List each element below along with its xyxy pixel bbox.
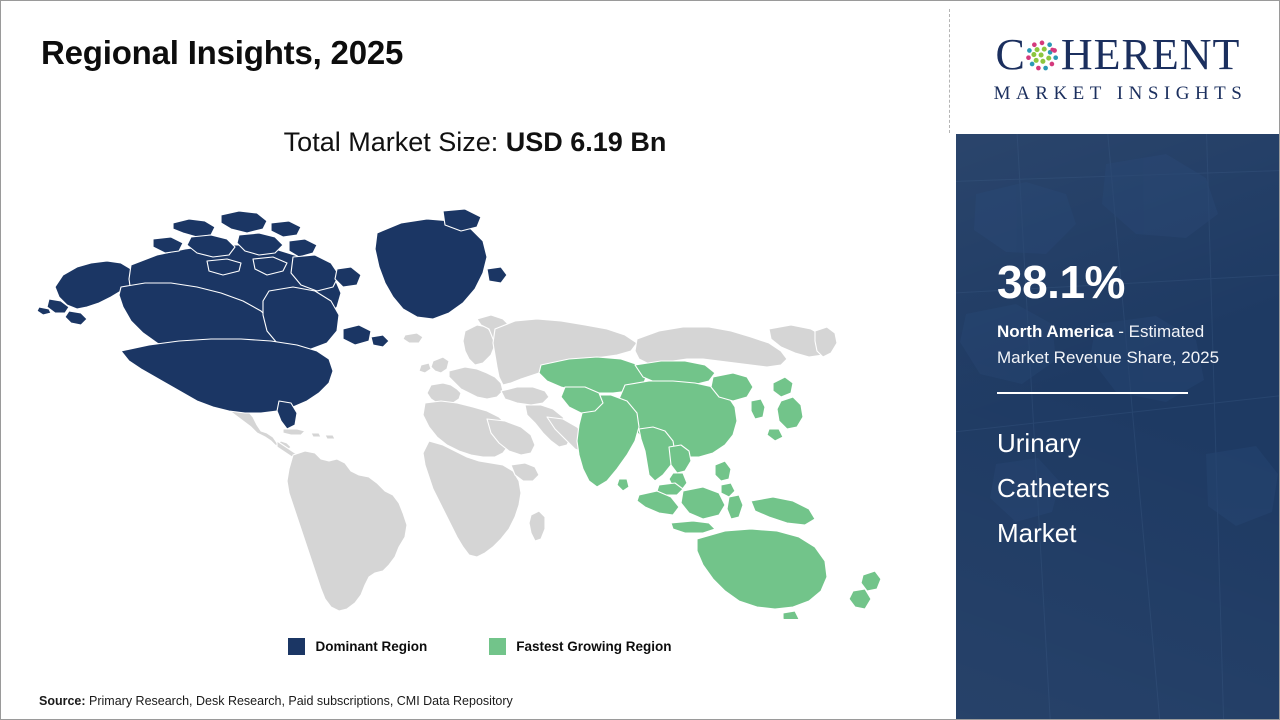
dominant-swatch-icon	[288, 638, 305, 655]
fastest-growing-swatch-icon	[489, 638, 506, 655]
stat-description: North America - Estimated Market Revenue…	[997, 319, 1259, 371]
brand-name-rest: HERENT	[1061, 33, 1241, 77]
page-title: Regional Insights, 2025	[41, 34, 403, 72]
globe-icon	[1024, 37, 1060, 73]
market-size-label: Total Market Size:	[284, 127, 499, 157]
stat-percentage: 38.1%	[997, 259, 1262, 305]
brand-tagline: MARKET INSIGHTS	[989, 83, 1248, 105]
source-text: Primary Research, Desk Research, Paid su…	[86, 694, 513, 708]
vertical-dashed-divider	[949, 9, 950, 133]
stat-content: 38.1% North America - Estimated Market R…	[997, 259, 1262, 556]
market-title: Urinary Catheters Market	[997, 421, 1167, 556]
map-region-asia-pacific	[539, 357, 881, 619]
stat-panel: 38.1% North America - Estimated Market R…	[956, 134, 1280, 720]
brand-wordmark: C	[996, 31, 1241, 79]
stat-region-name: North America	[997, 322, 1114, 341]
source-label: Source:	[39, 694, 86, 708]
market-size-value: USD 6.19 Bn	[506, 127, 667, 157]
source-note: Source: Primary Research, Desk Research,…	[39, 694, 513, 708]
legend-label-fastest-growing: Fastest Growing Region	[516, 639, 671, 654]
total-market-size: Total Market Size: USD 6.19 Bn	[1, 127, 949, 158]
legend-item-fastest-growing: Fastest Growing Region	[489, 638, 671, 655]
map-legend: Dominant Region Fastest Growing Region	[1, 638, 949, 655]
regional-insights-infographic: Regional Insights, 2025 Total Market Siz…	[0, 0, 1280, 720]
stat-divider	[997, 392, 1188, 394]
world-map-svg	[25, 179, 905, 619]
legend-label-dominant: Dominant Region	[315, 639, 427, 654]
brand-logo: C	[956, 1, 1280, 134]
legend-item-dominant: Dominant Region	[288, 638, 427, 655]
left-content-pane: Regional Insights, 2025 Total Market Siz…	[1, 1, 949, 720]
world-map	[25, 179, 905, 619]
right-sidebar: C	[956, 1, 1280, 720]
brand-letter-c: C	[996, 33, 1026, 77]
